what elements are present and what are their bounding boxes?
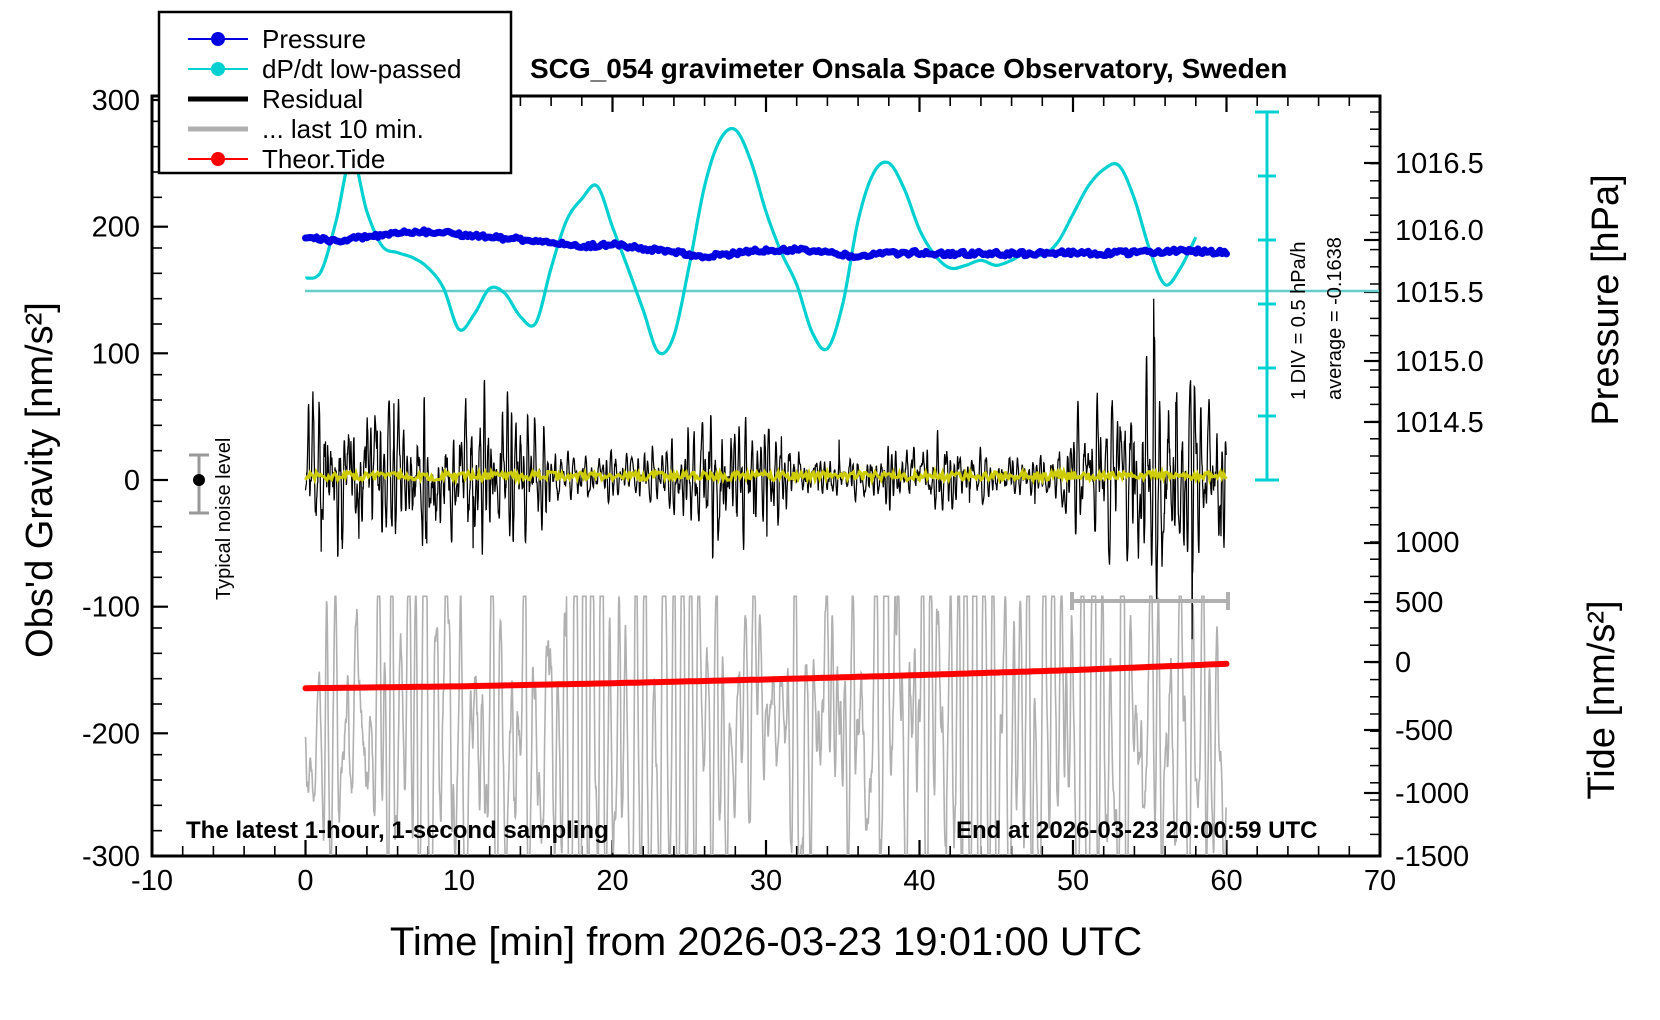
- x-axis-title: Time [min] from 2026-03-23 19:01:00 UTC: [390, 920, 1142, 964]
- x-tick-label: 10: [443, 865, 475, 897]
- tide-tick-label: 500: [1395, 587, 1443, 619]
- page-title: SCG_054 gravimeter Onsala Space Observat…: [530, 53, 1287, 84]
- tide-marker-icon: [211, 152, 225, 166]
- pressure-marker-icon: [211, 32, 225, 46]
- gravimeter-plot: Typical noise level 1 DIV = 0.5 hPa/h av…: [0, 0, 1660, 1020]
- pressure-tick-label: 1015.5: [1395, 277, 1484, 309]
- pressure-tick-label: 1015.0: [1395, 346, 1484, 378]
- x-tick-label: 50: [1057, 865, 1089, 897]
- tide-tick-label: 0: [1395, 647, 1411, 679]
- y-left-axis-title: Obs'd Gravity [nm/s²]: [19, 302, 61, 658]
- y-left-tick-label: 100: [92, 338, 140, 370]
- legend-label: Residual: [262, 84, 363, 114]
- y-left-tick-label: -200: [82, 718, 140, 750]
- legend-label: Theor.Tide: [262, 144, 385, 174]
- tide-tick-label: -500: [1395, 715, 1453, 747]
- x-tick-label: 40: [903, 865, 935, 897]
- pressure-tick-label: 1016.5: [1395, 148, 1484, 180]
- x-tick-label: 70: [1364, 865, 1396, 897]
- legend-label: ... last 10 min.: [262, 114, 424, 144]
- dpdt-marker-icon: [211, 62, 225, 76]
- x-tick-label: 0: [297, 865, 313, 897]
- footer-left-note: The latest 1-hour, 1-second sampling: [186, 817, 609, 844]
- y-left-tick-label: 200: [92, 212, 140, 244]
- y-right-tide-axis-title: Tide [nm/s²]: [1581, 600, 1623, 799]
- typical-noise-level-label: Typical noise level: [213, 438, 235, 600]
- chart-root: Typical noise level 1 DIV = 0.5 hPa/h av…: [0, 0, 1660, 1020]
- y-left-tick-label: -100: [82, 592, 140, 624]
- tide-tick-label: 1000: [1395, 527, 1460, 559]
- scale-average-label: average = -0.1638: [1324, 237, 1346, 400]
- scale-div-label: 1 DIV = 0.5 hPa/h: [1288, 242, 1310, 400]
- y-right-pressure-axis-title: Pressure [hPa]: [1585, 174, 1627, 425]
- pressure-tick-label: 1016.0: [1395, 215, 1484, 247]
- legend-label: dP/dt low-passed: [262, 54, 461, 84]
- x-tick-label: 20: [596, 865, 628, 897]
- pressure-tick-label: 1014.5: [1395, 407, 1484, 439]
- y-left-tick-label: -300: [82, 841, 140, 873]
- tide-tick-label: -1500: [1395, 841, 1469, 873]
- tide-tick-label: -1000: [1395, 778, 1469, 810]
- footer-right-note: End at 2026-03-23 20:00:59 UTC: [956, 817, 1318, 844]
- y-left-tick-label: 300: [92, 85, 140, 117]
- x-tick-label: 60: [1210, 865, 1242, 897]
- legend[interactable]: Pressure dP/dt low-passed Residual ... l…: [159, 12, 511, 174]
- x-tick-label: 30: [750, 865, 782, 897]
- y-left-tick-label: 0: [124, 465, 140, 497]
- legend-label: Pressure: [262, 24, 366, 54]
